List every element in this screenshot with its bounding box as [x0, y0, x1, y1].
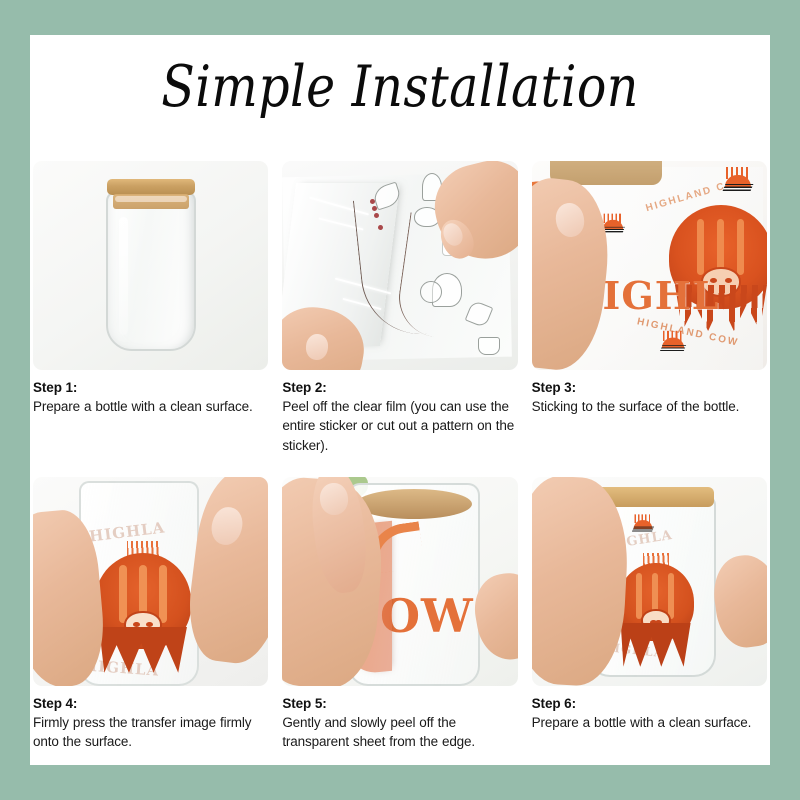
- cow-nostril-icon: [655, 620, 662, 625]
- sun-badge-icon: [723, 167, 753, 191]
- step-label-1: Step 1:: [33, 379, 268, 397]
- cow-snout-icon: [124, 611, 162, 639]
- cow-snout-icon: [641, 609, 671, 632]
- step-text-1: Prepare a bottle with a clean surface.: [33, 397, 268, 416]
- step-caption-6: Step 6: Prepare a bottle with a clean su…: [532, 686, 767, 732]
- step-caption-2: Step 2: Peel off the clear film (you can…: [282, 370, 517, 455]
- mane-streak-icon: [737, 219, 744, 275]
- step-text-4: Firmly press the transfer image firmly o…: [33, 713, 268, 751]
- highland-cow-icon: [618, 563, 694, 669]
- page-title: Simple Installation: [82, 35, 718, 116]
- cow-mane-icon: [95, 553, 191, 649]
- step-card-1: Step 1: Prepare a bottle with a clean su…: [33, 161, 268, 455]
- poster-page: Simple Installation Step 1: Prepare a bo…: [30, 35, 770, 765]
- step-text-2: Peel off the clear film (you can use the…: [282, 397, 517, 454]
- cow-nostril-icon: [146, 622, 153, 627]
- step-card-6: HIGHLA HIGHLA: [532, 477, 767, 752]
- step-text-5: Gently and slowly peel off the transpare…: [282, 713, 517, 751]
- step-card-4: HIGHLA HIGHLA: [33, 477, 268, 752]
- mane-streak-icon: [697, 219, 704, 275]
- step-card-2: Step 2: Peel off the clear film (you can…: [282, 161, 517, 455]
- step-card-5: COW Step 5: Gently and slowly peel off t…: [282, 477, 517, 752]
- step-photo-3: HIGHL HIGHLAND COW HIGHLAND COW: [532, 161, 767, 370]
- cow-nostril-icon: [725, 278, 732, 283]
- mane-streak-icon: [636, 573, 642, 619]
- lid-seal-icon: [115, 196, 187, 202]
- step-caption-1: Step 1: Prepare a bottle with a clean su…: [33, 370, 268, 416]
- step-label-5: Step 5:: [282, 695, 517, 713]
- glass-highlight-icon: [119, 217, 128, 335]
- step-card-3: HIGHL HIGHLAND COW HIGHLAND COW Step 3: …: [532, 161, 767, 455]
- step-photo-5: COW: [282, 477, 517, 686]
- cow-nostril-icon: [133, 622, 140, 627]
- step-label-6: Step 6:: [532, 695, 767, 713]
- step-text-3: Sticking to the surface of the bottle.: [532, 397, 767, 416]
- step-photo-6: HIGHLA HIGHLA: [532, 477, 767, 686]
- step-label-3: Step 3:: [532, 379, 767, 397]
- cow-mane-icon: [618, 563, 694, 641]
- step-caption-5: Step 5: Gently and slowly peel off the t…: [282, 686, 517, 752]
- step-label-4: Step 4:: [33, 695, 268, 713]
- decal-pot-icon: [478, 337, 500, 355]
- step-photo-1: [33, 161, 268, 370]
- finger-icon: [709, 551, 767, 651]
- step-caption-4: Step 4: Firmly press the transfer image …: [33, 686, 268, 752]
- highland-cow-icon: [95, 553, 191, 665]
- sun-badge-icon: [632, 514, 654, 531]
- bamboo-lid-icon: [107, 179, 195, 195]
- step-caption-3: Step 3: Sticking to the surface of the b…: [532, 370, 767, 416]
- mane-streak-icon: [119, 565, 127, 623]
- step-text-6: Prepare a bottle with a clean surface.: [532, 713, 767, 732]
- step-label-2: Step 2:: [282, 379, 517, 397]
- step-photo-2: [282, 161, 517, 370]
- mane-streak-icon: [159, 565, 167, 623]
- steps-grid: Step 1: Prepare a bottle with a clean su…: [33, 161, 767, 751]
- mane-streak-icon: [668, 573, 674, 619]
- step-photo-4: HIGHLA HIGHLA: [33, 477, 268, 686]
- jar-rim-icon: [356, 489, 472, 519]
- sun-badge-icon: [660, 331, 686, 351]
